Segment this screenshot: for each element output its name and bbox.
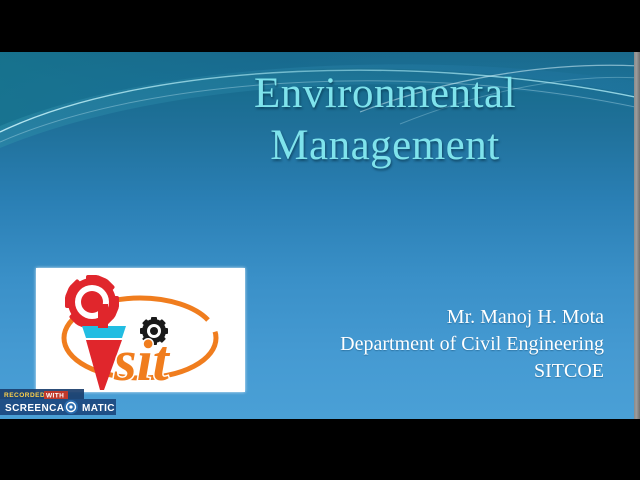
slide-title-line-1: Environmental [150,68,620,120]
presenter-department: Department of Civil Engineering [340,331,604,358]
institution-logo: sit [36,268,245,392]
presenter-name: Mr. Manoj H. Mota [340,304,604,331]
presentation-slide: Environmental Management Mr. Manoj H. Mo… [0,52,640,419]
logo-wordmark: sit [113,328,171,392]
watermark-top-label-2: WITH [46,393,64,400]
right-edge-scrollbar[interactable] [634,52,640,419]
slide-subtitle: Mr. Manoj H. Mota Department of Civil En… [340,304,604,385]
slide-title-line-2: Management [150,120,620,172]
watermark-top-label: RECORDED [4,392,45,399]
watermark-brand-right: MATIC [82,403,115,414]
video-player-frame: Environmental Management Mr. Manoj H. Mo… [0,0,640,480]
letterbox-bottom [0,419,640,480]
screencast-o-matic-watermark: RECORDED WITH SCREENCAST MATIC [0,389,116,415]
presenter-institution: SITCOE [340,358,604,385]
logo-gear-icon [65,275,119,329]
letterbox-top [0,0,640,52]
slide-title: Environmental Management [150,68,620,172]
